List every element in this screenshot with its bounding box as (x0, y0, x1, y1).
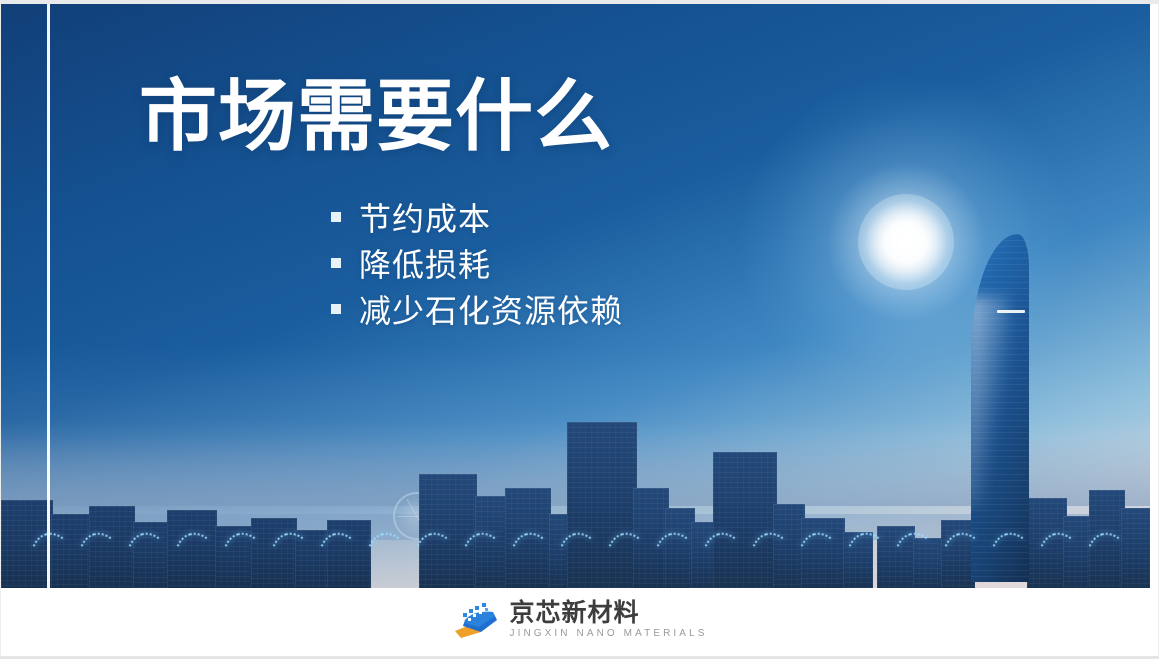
list-item-label: 节约成本 (359, 194, 491, 240)
sun-core-icon (858, 194, 954, 290)
presentation-slide: 市场需要什么 节约成本 降低损耗 减少石化资源依赖 (0, 0, 1159, 659)
square-bullet-icon (331, 212, 341, 222)
list-item: 节约成本 (331, 194, 623, 240)
tower-light-band (997, 310, 1025, 313)
jingxin-pixel-logo-icon (451, 601, 499, 639)
square-bullet-icon (331, 258, 341, 268)
list-item: 减少石化资源依赖 (331, 286, 623, 332)
bullet-list: 节约成本 降低损耗 减少石化资源依赖 (331, 194, 623, 332)
list-item-label: 降低损耗 (359, 240, 491, 286)
logo-name-en: JINGXIN NANO MATERIALS (509, 628, 707, 640)
square-bullet-icon (331, 304, 341, 314)
page-title: 市场需要什么 (139, 76, 613, 158)
logo-name-cn: 京芯新材料 (509, 600, 707, 628)
slide-footer: 京芯新材料 JINGXIN NANO MATERIALS (1, 588, 1158, 656)
city-skyline (1, 362, 1150, 592)
list-item-label: 减少石化资源依赖 (359, 286, 623, 332)
vertical-accent-line (47, 4, 50, 592)
company-logo: 京芯新材料 JINGXIN NANO MATERIALS (451, 600, 707, 641)
list-item: 降低损耗 (331, 240, 623, 286)
logo-wordmark: 京芯新材料 JINGXIN NANO MATERIALS (509, 600, 707, 641)
network-arc-overlay (1, 502, 1150, 592)
